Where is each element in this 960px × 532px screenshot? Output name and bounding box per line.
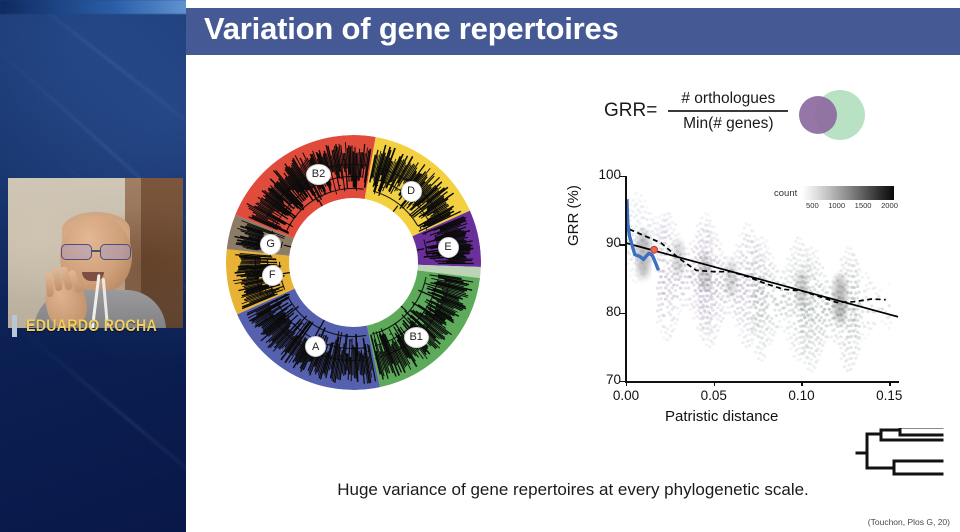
- y-tick-label: 90: [581, 235, 621, 250]
- x-tick-label: 0.15: [866, 388, 912, 403]
- x-tick-mark: [626, 381, 627, 386]
- speaker-name-label: EDUARDO ROCHA: [26, 317, 157, 336]
- page-title: Variation of gene repertoires: [204, 11, 619, 47]
- grr-label: GRR=: [604, 100, 657, 122]
- slide-caption: Huge variance of gene repertoires at eve…: [186, 480, 960, 500]
- legend-tick-labels: 500100015002000: [806, 201, 898, 210]
- x-tick-mark: [889, 381, 890, 386]
- x-tick-mark: [801, 381, 802, 386]
- x-tick-label: 0.05: [691, 388, 737, 403]
- speaker-video-frame: [8, 178, 183, 328]
- count-legend: count 500100015002000: [774, 186, 899, 210]
- fraction-denominator: Min(# genes): [677, 112, 779, 133]
- y-tick-label: 70: [581, 372, 621, 387]
- highlight-marker: [651, 246, 658, 253]
- y-axis-line: [625, 176, 627, 382]
- legend-tick: 1500: [855, 201, 872, 210]
- x-tick-mark: [714, 381, 715, 386]
- eyeglasses-icon: [60, 244, 132, 259]
- slide-citation: (Touchon, Plos G, 20): [868, 517, 950, 527]
- y-axis-label: GRR (%): [565, 185, 582, 246]
- speaker-video-panel[interactable]: [8, 178, 183, 328]
- webinar-stage: EDUARDO ROCHA Variation of gene repertoi…: [0, 0, 960, 532]
- tree-clade-label-G: G: [260, 234, 281, 255]
- accent-bar: [12, 315, 17, 337]
- y-tick-label: 100: [581, 167, 621, 182]
- venn-diagram-icon: [799, 90, 865, 140]
- legend-title: count: [774, 188, 797, 199]
- legend-tick: 1000: [828, 201, 845, 210]
- y-tick-label: 80: [581, 304, 621, 319]
- presentation-slide[interactable]: Variation of gene repertoires GRR= # ort…: [186, 0, 960, 532]
- grr-formula: GRR= # orthologues Min(# genes): [604, 90, 788, 133]
- x-axis-line: [625, 381, 899, 383]
- tree-inner-hole: [289, 198, 418, 327]
- venn-circle-left: [799, 96, 837, 134]
- tree-clade-label-D: D: [401, 181, 422, 202]
- y-tick-mark: [620, 313, 625, 314]
- tree-clade-label-E: E: [438, 237, 459, 258]
- tree-clade-label-B2: B2: [306, 164, 331, 185]
- x-tick-label: 0.00: [603, 388, 649, 403]
- phylogenetic-tree-figure: B2DEB1AFG: [226, 135, 486, 390]
- y-tick-mark: [620, 381, 625, 382]
- grr-vs-distance-chart: 708090100 0.000.050.100.15 GRR (%) Patri…: [569, 168, 929, 428]
- x-axis-label: Patristic distance: [665, 408, 778, 425]
- fraction-numerator: # orthologues: [675, 90, 781, 110]
- legend-tick: 500: [806, 201, 819, 210]
- speaker-name-banner: EDUARDO ROCHA: [8, 310, 183, 342]
- tree-clade-label-B1: B1: [404, 327, 429, 348]
- tree-clade-label-F: F: [262, 265, 283, 286]
- grr-fraction: # orthologues Min(# genes): [668, 90, 788, 133]
- y-tick-mark: [620, 176, 625, 177]
- mini-cladogram-icon: [854, 428, 949, 478]
- legend-colorbar: [802, 186, 894, 200]
- y-tick-mark: [620, 244, 625, 245]
- x-tick-label: 0.10: [778, 388, 824, 403]
- legend-tick: 2000: [881, 201, 898, 210]
